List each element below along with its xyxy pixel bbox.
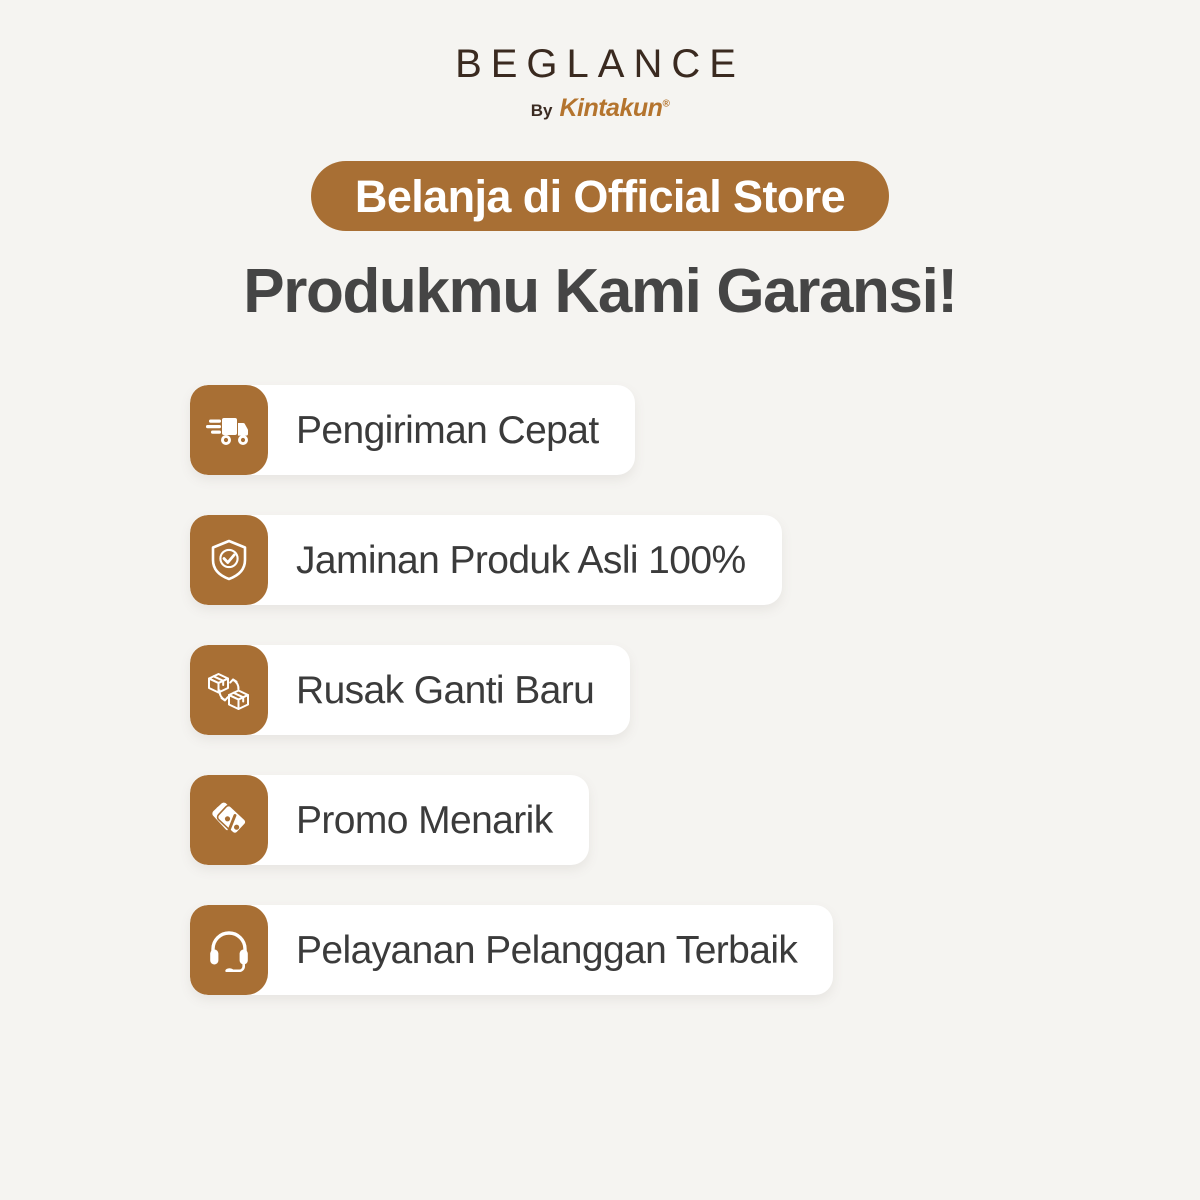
official-store-badge: Belanja di Official Store bbox=[311, 161, 889, 231]
list-item: Pengiriman Cepat bbox=[190, 385, 635, 475]
brand-by-label: By bbox=[531, 101, 553, 121]
official-store-badge-label: Belanja di Official Store bbox=[355, 174, 845, 219]
delivery-truck-icon bbox=[190, 385, 268, 475]
list-item: Jaminan Produk Asli 100% bbox=[190, 515, 782, 605]
list-item: Rusak Ganti Baru bbox=[190, 645, 630, 735]
registered-trademark-icon: ® bbox=[662, 99, 669, 110]
box-exchange-icon bbox=[190, 645, 268, 735]
brand-logo: BEGLANCE By Kintakun® bbox=[455, 44, 745, 123]
list-item-label: Jaminan Produk Asli 100% bbox=[296, 541, 746, 580]
shield-check-icon bbox=[190, 515, 268, 605]
list-item-label: Pelayanan Pelanggan Terbaik bbox=[296, 931, 797, 970]
brand-name: BEGLANCE bbox=[455, 44, 745, 84]
brand-sublogo: By Kintakun® bbox=[455, 94, 745, 123]
brand-sub-name: Kintakun® bbox=[559, 94, 669, 123]
list-item: Pelayanan Pelanggan Terbaik bbox=[190, 905, 833, 995]
headset-support-icon bbox=[190, 905, 268, 995]
feature-list: Pengiriman Cepat Jaminan Produk Asli 100… bbox=[0, 385, 1200, 995]
price-tag-percent-icon bbox=[190, 775, 268, 865]
page-title: Produkmu Kami Garansi! bbox=[243, 261, 956, 323]
list-item: Promo Menarik bbox=[190, 775, 589, 865]
list-item-label: Promo Menarik bbox=[296, 801, 553, 840]
list-item-label: Pengiriman Cepat bbox=[296, 411, 599, 450]
promo-banner: BEGLANCE By Kintakun® Belanja di Officia… bbox=[0, 0, 1200, 1200]
list-item-label: Rusak Ganti Baru bbox=[296, 671, 594, 710]
